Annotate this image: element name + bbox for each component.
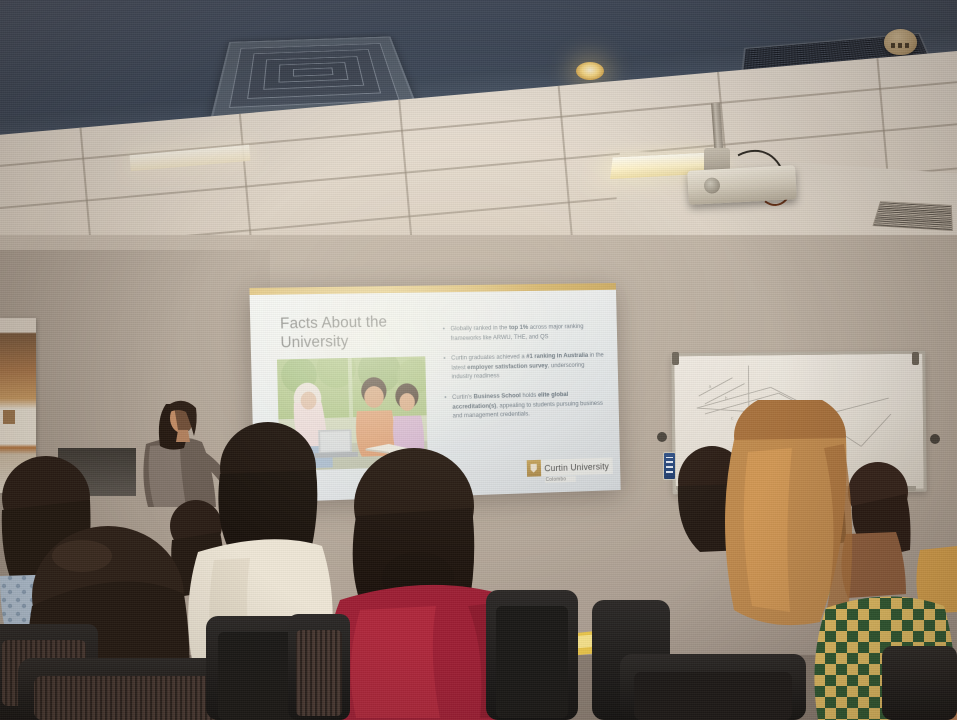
audience-foreground: [0, 400, 957, 720]
slide-bullet: Globally ranked in the top 1% across maj…: [442, 322, 604, 344]
attendee-auburn: [725, 400, 852, 625]
lecture-hall-scene: ab cd ef Facts About the University: [0, 0, 957, 720]
svg-text:a: a: [709, 384, 712, 390]
slide-bullet: Curtin graduates achieved a #1 ranking i…: [442, 351, 605, 383]
whiteboard-corner-clip: [912, 352, 919, 365]
ceiling-vent-icon: [872, 201, 952, 231]
downlight-icon: [576, 62, 604, 80]
smoke-detector-icon: [884, 29, 917, 55]
slide-title: Facts About the University: [280, 312, 427, 353]
whiteboard-corner-clip: [672, 352, 679, 365]
projector-icon: [687, 165, 797, 205]
projector-lens: [704, 177, 721, 194]
